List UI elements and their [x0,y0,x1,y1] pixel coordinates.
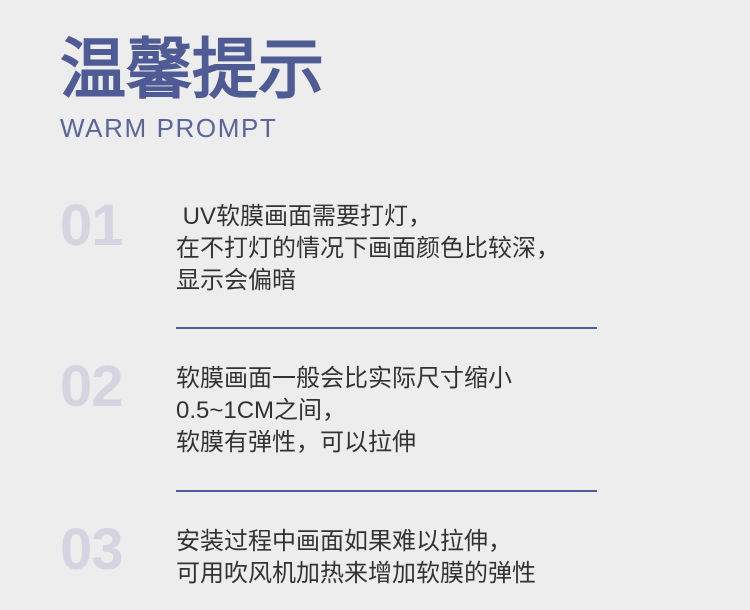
list-item: 02 软膜画面一般会比实际尺寸缩小 0.5~1CM之间， 软膜有弹性，可以拉伸 [0,357,750,469]
section-divider [176,490,597,492]
spacer [0,308,750,327]
item-text-01: UV软膜画面需要打灯， 在不打灯的情况下画面颜色比较深， 显示会偏暗 [176,196,750,297]
item-number-02: 02 [60,357,176,418]
item-line: 可用吹风机加热来增加软膜的弹性 [176,558,750,590]
page-header: 温馨提示 WARM PROMPT [60,36,324,143]
divider-row-2 [0,490,750,520]
list-item: 01 UV软膜画面需要打灯， 在不打灯的情况下画面颜色比较深， 显示会偏暗 [0,196,750,308]
item-line: UV软膜画面需要打灯， [176,201,750,233]
item-line: 在不打灯的情况下画面颜色比较深， [176,233,750,265]
item-line: 0.5~1CM之间， [176,395,750,427]
item-number-03: 03 [60,520,176,581]
list-item: 03 安装过程中画面如果难以拉伸， 可用吹风机加热来增加软膜的弹性 [0,520,750,610]
item-line: 软膜画面一般会比实际尺寸缩小 [176,363,750,395]
section-divider [176,327,597,329]
warm-prompt-page: 温馨提示 WARM PROMPT 01 UV软膜画面需要打灯， 在不打灯的情况下… [0,0,750,607]
page-subtitle: WARM PROMPT [60,114,324,143]
spacer [0,469,750,490]
prompt-list: 01 UV软膜画面需要打灯， 在不打灯的情况下画面颜色比较深， 显示会偏暗 02… [0,196,750,610]
item-line: 显示会偏暗 [176,265,750,297]
item-line: 软膜有弹性，可以拉伸 [176,427,750,459]
item-number-01: 01 [60,196,176,257]
divider-row-1 [0,327,750,357]
item-line: 安装过程中画面如果难以拉伸， [176,526,750,558]
page-title: 温馨提示 [60,36,324,102]
item-text-02: 软膜画面一般会比实际尺寸缩小 0.5~1CM之间， 软膜有弹性，可以拉伸 [176,357,750,459]
item-text-03: 安装过程中画面如果难以拉伸， 可用吹风机加热来增加软膜的弹性 [176,520,750,590]
